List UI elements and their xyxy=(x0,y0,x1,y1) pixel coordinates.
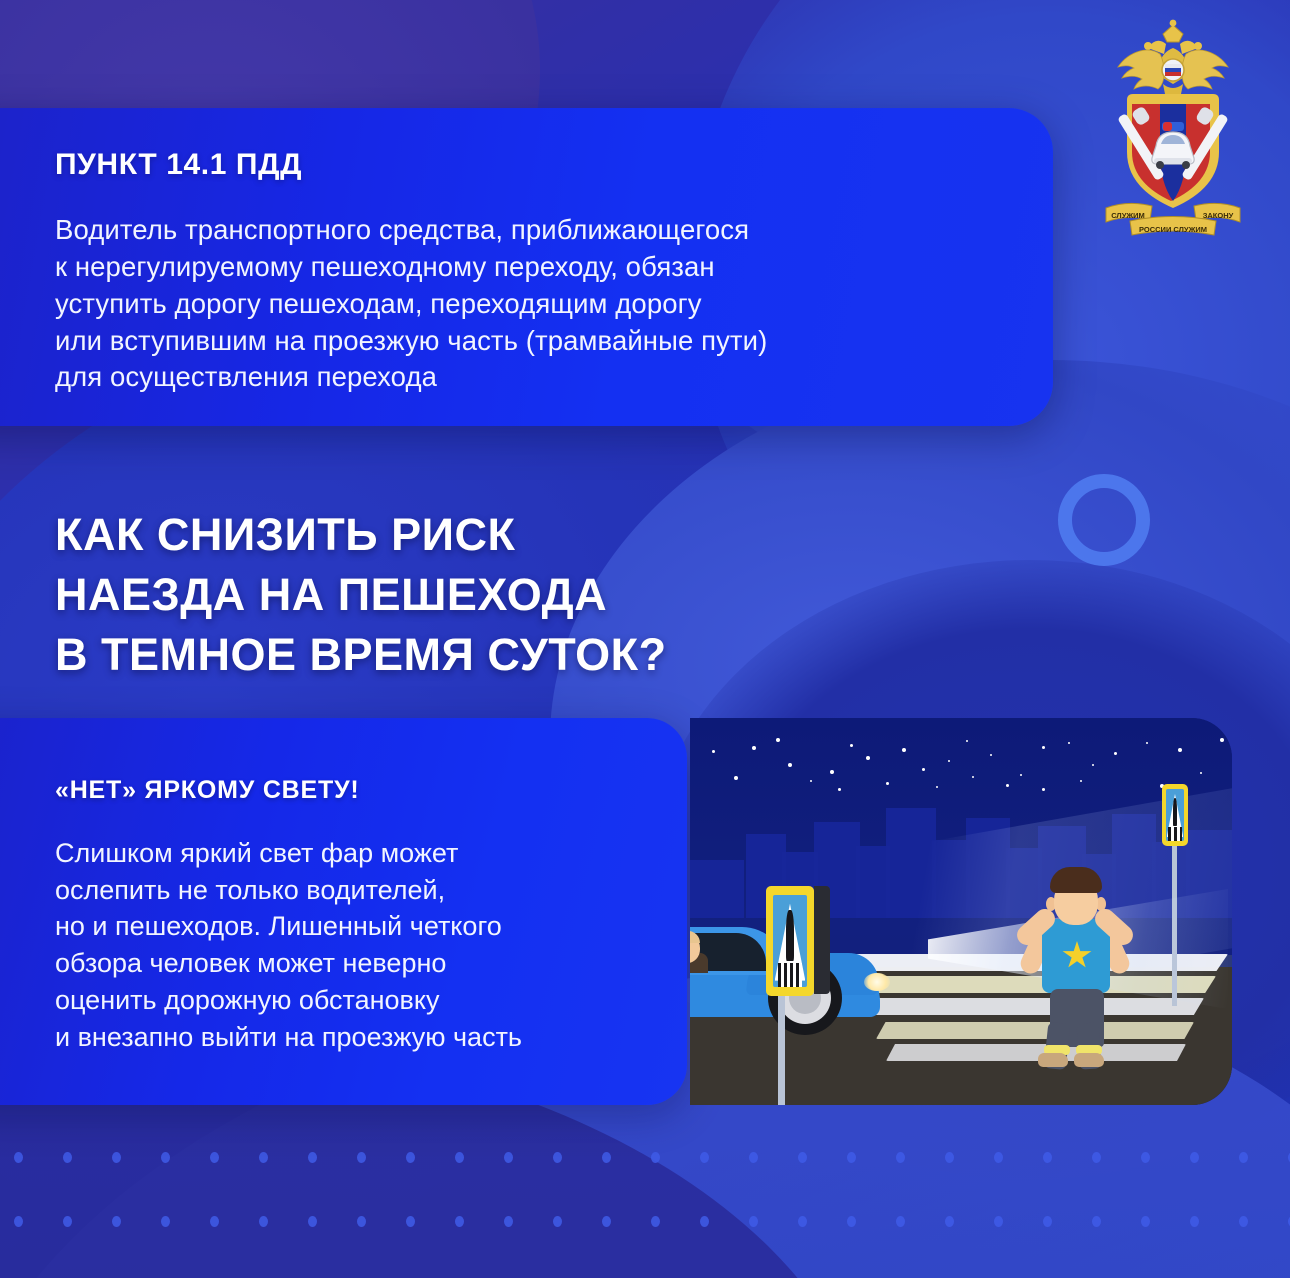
star xyxy=(1178,748,1182,752)
star xyxy=(966,740,968,742)
ribbon-text-center: РОССИИ СЛУЖИМ xyxy=(1139,225,1207,234)
star xyxy=(866,756,870,760)
star xyxy=(1068,742,1070,744)
star xyxy=(972,776,974,778)
star xyxy=(850,744,853,747)
star xyxy=(1092,764,1094,766)
star xyxy=(886,782,889,785)
tip-card: «НЕТ» ЯРКОМУ СВЕТУ! Слишком яркий свет ф… xyxy=(0,718,687,1105)
star xyxy=(1200,772,1202,774)
near-sign-side-edge xyxy=(814,886,830,994)
rule-card: ПУНКТ 14.1 ПДД Водитель транспортного ср… xyxy=(0,108,1053,426)
star xyxy=(1006,784,1009,787)
star xyxy=(1114,752,1117,755)
star xyxy=(1080,780,1082,782)
tip-body-line: но и пешеходов. Лишенный четкого xyxy=(55,908,653,945)
tip-card-body: Слишком яркий свет фар может ослепить не… xyxy=(55,835,653,1055)
rule-body-line: для осуществления перехода xyxy=(55,359,993,396)
left-shoe xyxy=(1038,1053,1068,1067)
heading-line: В ТЕМНОЕ ВРЕМЯ СУТОК? xyxy=(55,625,875,685)
star xyxy=(1220,738,1224,742)
star xyxy=(1042,746,1045,749)
rule-body-line: или вступившим на проезжую часть (трамва… xyxy=(55,323,993,360)
ribbon-text-left: СЛУЖИМ xyxy=(1111,211,1145,220)
heading-line: НАЕЗДА НА ПЕШЕХОДА xyxy=(55,565,875,625)
star xyxy=(902,748,906,752)
star xyxy=(734,776,738,780)
far-pedestrian-crossing-sign xyxy=(1162,784,1188,846)
star xyxy=(948,760,950,762)
ribbon-text-right: ЗАКОНУ xyxy=(1203,211,1234,220)
star xyxy=(776,738,780,742)
heading-line: КАК СНИЗИТЬ РИСК xyxy=(55,505,875,565)
star xyxy=(788,763,792,767)
star xyxy=(990,754,992,756)
tip-card-title: «НЕТ» ЯРКОМУ СВЕТУ! xyxy=(55,776,653,805)
tip-body-line: оценить дорожную обстановку xyxy=(55,982,653,1019)
night-crosswalk-illustration xyxy=(690,718,1232,1105)
star xyxy=(1020,774,1022,776)
star xyxy=(1042,788,1045,791)
rule-body-line: к нерегулируемому пешеходному переходу, … xyxy=(55,249,993,286)
star xyxy=(838,788,841,791)
rule-body-line: Водитель транспортного средства, приближ… xyxy=(55,212,993,249)
decorative-ring-icon xyxy=(1058,474,1150,566)
star xyxy=(936,786,938,788)
double-headed-eagle-icon xyxy=(1118,48,1228,97)
rule-body-line: уступить дорогу пешеходам, переходящим д… xyxy=(55,286,993,323)
star xyxy=(810,780,812,782)
sign-pedestrian-glyph xyxy=(786,910,794,961)
hair xyxy=(1050,867,1102,893)
shield-icon xyxy=(1117,94,1229,208)
tip-body-line: и внезапно выйти на проезжую часть xyxy=(55,1019,653,1056)
star xyxy=(1146,742,1148,744)
tip-body-line: обзора человек может неверно xyxy=(55,945,653,982)
tip-body-line: Слишком яркий свет фар может xyxy=(55,835,653,872)
star xyxy=(830,770,834,774)
near-pedestrian-crossing-sign xyxy=(766,886,814,996)
main-heading: КАК СНИЗИТЬ РИСК НАЕЗДА НА ПЕШЕХОДА В ТЕ… xyxy=(55,505,875,685)
car-headlight xyxy=(864,973,890,991)
rule-card-title: ПУНКТ 14.1 ПДД xyxy=(55,148,993,182)
sign-zebra-glyph xyxy=(778,963,803,987)
near-sign-post xyxy=(778,986,785,1105)
rule-card-body: Водитель транспортного средства, приближ… xyxy=(55,212,993,396)
poster-canvas: ПУНКТ 14.1 ПДД Водитель транспортного ср… xyxy=(0,0,1290,1278)
star xyxy=(922,768,925,771)
sign-pedestrian-glyph xyxy=(1173,798,1177,827)
motto-ribbon: СЛУЖИМ РОССИИ СЛУЖИМ ЗАКОНУ xyxy=(1106,203,1240,235)
mvd-gibdd-emblem: СЛУЖИМ РОССИИ СЛУЖИМ ЗАКОНУ xyxy=(1100,18,1246,240)
star xyxy=(712,750,715,753)
sign-zebra-glyph xyxy=(1168,827,1182,841)
tip-body-line: ослепить не только водителей, xyxy=(55,872,653,909)
right-shoe xyxy=(1074,1053,1104,1067)
pedestrian-boy xyxy=(1020,853,1130,1063)
star xyxy=(752,746,756,750)
